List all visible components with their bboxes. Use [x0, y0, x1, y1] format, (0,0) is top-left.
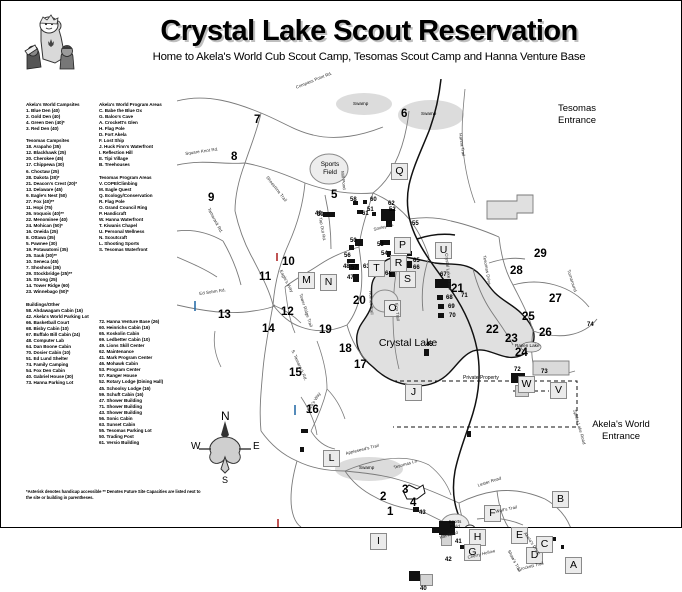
- building-number-marker[interactable]: 52: [389, 207, 396, 213]
- building-block: [301, 429, 308, 433]
- building-number-marker[interactable]: 69: [448, 304, 455, 310]
- building-number-marker[interactable]: 61: [362, 211, 369, 217]
- building-block: [363, 200, 367, 204]
- building-block: [347, 259, 355, 263]
- legend-list-akelas-program-areas: C. Babe the Blue OxG. Baloo's CaveA. Cro…: [99, 108, 162, 168]
- campsite-number-marker[interactable]: 9: [208, 192, 214, 204]
- legend-column-buildings-continued: 72. Hanna Venture Base (26)60. Heinrichs…: [99, 319, 163, 446]
- campsite-number-marker[interactable]: 24: [515, 347, 528, 359]
- program-area-letter-marker[interactable]: M: [298, 272, 315, 289]
- program-area-letter-marker[interactable]: B: [552, 491, 569, 508]
- tesomas-entrance-line2: Entrance: [537, 115, 617, 127]
- page-header: Crystal Lake Scout Reservation Home to A…: [1, 1, 682, 77]
- scout-neckerchief-logo-icon: [21, 11, 83, 73]
- program-area-letter-marker[interactable]: N: [320, 274, 337, 291]
- building-number-marker[interactable]: 41: [455, 539, 462, 545]
- legend-item-building: 73. Hanna Parking Lot: [26, 380, 89, 386]
- sports-field-word-field-2: Field: [439, 524, 471, 529]
- building-number-marker[interactable]: 58: [350, 197, 357, 203]
- building-number-marker[interactable]: 62: [388, 201, 395, 207]
- building-block: [300, 447, 304, 452]
- swamp-label: Swamp: [421, 111, 436, 116]
- campsite-number-marker[interactable]: 25: [522, 311, 535, 323]
- building-number-marker[interactable]: 56: [344, 253, 351, 259]
- building-number-marker[interactable]: 57: [351, 265, 358, 271]
- campsite-number-marker[interactable]: 4: [410, 497, 416, 509]
- legend-item-tesomas-program-area: Q. Ecology/Conservation: [99, 193, 162, 199]
- building-number-marker[interactable]: 47: [347, 275, 354, 281]
- legend-column-campsites: Akela's World Campsites 1. Blue Den (40)…: [26, 102, 89, 386]
- legend-item-building: 58. Ahdawagam Cabin (16): [26, 308, 89, 314]
- campsite-number-marker[interactable]: 19: [319, 324, 332, 336]
- campsite-number-marker[interactable]: 7: [254, 114, 260, 126]
- campsite-number-marker[interactable]: 3: [402, 484, 408, 496]
- campsite-number-marker[interactable]: 26: [539, 327, 552, 339]
- private-property-label: Private Property: [463, 375, 499, 381]
- page-title: Crystal Lake Scout Reservation: [89, 15, 649, 48]
- legend-item-building: 61. Versio Building: [99, 440, 163, 446]
- campsite-number-marker[interactable]: 20: [353, 295, 366, 307]
- building-number-marker[interactable]: 43: [419, 510, 426, 516]
- building-block: [437, 295, 443, 300]
- building-block: [553, 537, 556, 541]
- akelas-entrance-line2: Entrance: [573, 431, 669, 443]
- program-area-letter-marker[interactable]: I: [370, 533, 387, 550]
- campsite-number-marker[interactable]: 6: [401, 108, 407, 120]
- building-block: [467, 431, 471, 437]
- building-block: [407, 261, 412, 268]
- tesomas-entrance-label: Tesomas Entrance: [537, 103, 617, 127]
- akelas-entrance-line1: Akela's World: [573, 419, 669, 431]
- compass-west-label: W: [191, 441, 200, 452]
- campsite-number-marker[interactable]: 12: [281, 306, 294, 318]
- campsite-number-marker[interactable]: 10: [282, 256, 295, 268]
- map-page: Crystal Lake Scout Reservation Home to A…: [0, 0, 682, 528]
- program-area-letter-marker[interactable]: A: [565, 557, 582, 574]
- campsite-number-marker[interactable]: 28: [510, 265, 523, 277]
- building-number-marker[interactable]: 54: [381, 251, 388, 257]
- building-block: [349, 245, 354, 250]
- building-block: [409, 571, 420, 581]
- building-number-marker[interactable]: 72: [514, 367, 521, 373]
- akelas-entrance-label: Akela's World Entrance: [573, 419, 669, 443]
- campsite-number-marker[interactable]: 1: [387, 506, 393, 518]
- campsite-number-marker[interactable]: 14: [262, 323, 275, 335]
- legend-item-tesomas-program-area: S. Tesomas Waterfront: [99, 247, 162, 253]
- program-area-letter-marker[interactable]: R: [390, 255, 407, 272]
- building-number-marker[interactable]: 74: [587, 322, 594, 328]
- building-number-marker[interactable]: 42: [445, 557, 452, 563]
- sports-field-word-field: Field: [310, 169, 350, 177]
- sports-field-word-sports: Sports: [310, 161, 350, 169]
- reservation-map[interactable]: .rd{fill:none;stroke:#7a7a7a;stroke-widt…: [177, 79, 681, 527]
- raven-lake-label: Raven Lake: [515, 343, 540, 348]
- swamp-label: Swamp: [353, 101, 368, 106]
- map-vector-layer: .rd{fill:none;stroke:#7a7a7a;stroke-widt…: [177, 79, 681, 527]
- building-number-marker[interactable]: 50: [350, 238, 357, 244]
- legend-list-tesomas-campsites: 18. Arapaho (35)12. Blackhawk (25)20. Ch…: [26, 144, 89, 295]
- building-block: [561, 545, 564, 549]
- building-number-marker[interactable]: 70: [449, 313, 456, 319]
- program-area-letter-marker[interactable]: L: [323, 450, 340, 467]
- building-number-marker[interactable]: 55: [412, 221, 419, 227]
- building-block: [438, 313, 444, 318]
- campsite-number-marker[interactable]: 29: [534, 248, 547, 260]
- building-number-marker[interactable]: 73: [541, 369, 548, 375]
- legend-item-building: 42. Akela's World Parking Lot: [26, 314, 89, 320]
- compass-south-label: S: [222, 475, 228, 485]
- legend-list-buildings-other: 58. Ahdawagam Cabin (16)42. Akela's Worl…: [26, 308, 89, 387]
- building-block: [323, 212, 335, 217]
- legend-list-buildings-continued: 72. Hanna Venture Base (26)60. Heinrichs…: [99, 319, 163, 446]
- campsite-number-marker[interactable]: 2: [380, 491, 386, 503]
- building-block: [438, 304, 444, 309]
- campsite-number-marker[interactable]: 8: [231, 151, 237, 163]
- campsite-number-marker[interactable]: 22: [486, 324, 499, 336]
- compass-east-label: E: [253, 441, 260, 452]
- program-area-letter-marker[interactable]: W: [518, 376, 535, 393]
- legend-item-building: 52. Rotary Lodge (Dining Hall): [99, 379, 163, 385]
- campsite-number-marker[interactable]: 13: [218, 309, 231, 321]
- building-number-marker[interactable]: 68: [446, 295, 453, 301]
- legend-column-program-areas: Akela's World Program Areas C. Babe the …: [99, 102, 162, 253]
- campsite-number-marker[interactable]: 5: [331, 189, 337, 201]
- legend-list-akelas-campsites: 1. Blue Den (40)2. Gold Den (40)4. Green…: [26, 108, 89, 132]
- swamp-label: Swamp: [359, 465, 374, 470]
- tesomas-entrance-line1: Tesomas: [537, 103, 617, 115]
- program-area-letter-marker[interactable]: P: [394, 237, 411, 254]
- building-number-marker[interactable]: 60: [370, 197, 377, 203]
- building-number-marker[interactable]: 49: [315, 211, 322, 217]
- building-block: [424, 349, 429, 356]
- building-number-marker[interactable]: 71: [461, 293, 468, 299]
- program-area-letter-marker[interactable]: V: [550, 382, 567, 399]
- building-block-grey: [420, 574, 433, 586]
- compass-north-label: N: [221, 409, 230, 423]
- building-number-marker[interactable]: 65: [413, 258, 420, 264]
- program-area-letter-marker[interactable]: T: [368, 260, 385, 277]
- program-area-letter-marker[interactable]: J: [405, 384, 422, 401]
- page-subtitle: Home to Akela's World Cub Scout Camp, Te…: [89, 51, 649, 63]
- building-number-marker[interactable]: 40: [420, 586, 427, 592]
- program-area-letter-marker[interactable]: S: [399, 271, 416, 288]
- campsite-number-marker[interactable]: 17: [354, 359, 367, 371]
- legend-item-building: 67. Buffalo Bill Cabin (24): [26, 332, 89, 338]
- program-area-letter-marker[interactable]: Q: [391, 163, 408, 180]
- campsite-number-marker[interactable]: 11: [259, 271, 271, 283]
- sports-field-label-north: Sports Field: [310, 161, 350, 176]
- campsite-number-marker[interactable]: 27: [549, 293, 562, 305]
- lake-label: Crystal Lake: [363, 337, 453, 350]
- building-number-marker[interactable]: 48: [343, 264, 350, 270]
- legend-list-tesomas-program-areas: V. COPE/ClimbingM. Eagle QuestQ. Ecology…: [99, 181, 162, 254]
- building-number-marker[interactable]: 53: [377, 242, 384, 248]
- campsite-number-marker[interactable]: 18: [339, 343, 352, 355]
